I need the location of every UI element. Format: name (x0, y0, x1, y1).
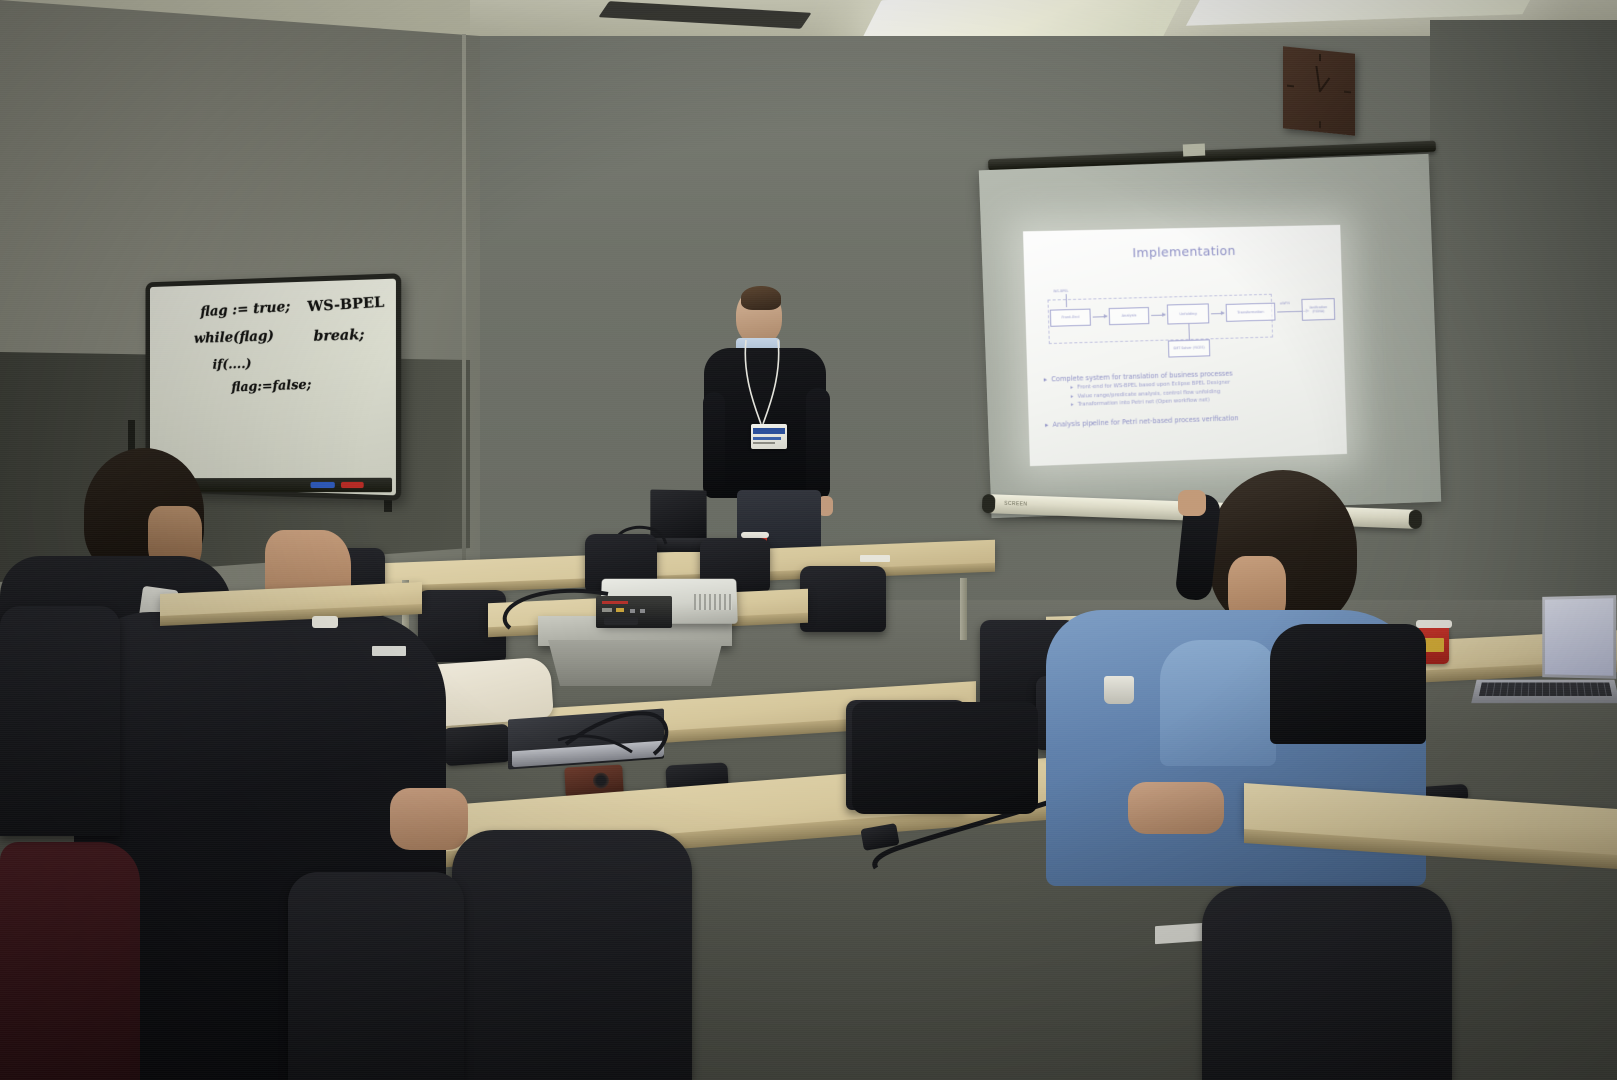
presenter-badge (751, 424, 787, 449)
whiteboard-line-3: if(....) (212, 357, 251, 373)
diagram-box-smt-solver: SMT Solver (YICES) (1168, 339, 1210, 357)
bullet-marker-icon: ▸ (1044, 374, 1048, 384)
paper-cup-center-right[interactable] (1104, 676, 1134, 704)
whiteboard-line-2: while(flag) (194, 328, 274, 347)
diagram-input-label: WS-BPEL (1053, 289, 1068, 293)
red-backpack (0, 842, 140, 1080)
chair[interactable] (0, 606, 120, 836)
projector-vent-icon (694, 594, 732, 610)
bullet-marker-icon: ▸ (1071, 393, 1074, 402)
whiteboard-line-break: break; (313, 327, 364, 345)
slide-diagram: WS-BPEL Front-End Analysis Unfolding Tra… (1039, 276, 1332, 362)
screen-rail-bracket (1183, 144, 1205, 157)
wall-clock-icon (1283, 46, 1355, 136)
bullet-marker-icon: ▸ (1071, 401, 1074, 410)
attendee-blue-shirt-shoulder (1160, 640, 1276, 766)
presenter-hair (741, 286, 781, 310)
presenter-right-arm (806, 388, 830, 500)
table-leg (960, 578, 967, 640)
diagram-box-transformation: Transformation (1226, 303, 1276, 322)
attendee-front-center-hands (390, 788, 468, 850)
slide-bullet-2: ▸Analysis pipeline for Petri net-based p… (1045, 410, 1336, 431)
diagram-box-verification: Verification (FIONA) (1301, 298, 1335, 321)
whiteboard-line-4: flag:=false; (231, 377, 312, 395)
bullet-marker-icon: ▸ (1045, 420, 1049, 430)
diagram-box-analysis: Analysis (1109, 307, 1150, 325)
camera-lens-icon (593, 772, 610, 789)
presenter-left-arm (703, 392, 725, 498)
desk-label (372, 646, 406, 656)
coffee-cup-right-lid (1416, 620, 1452, 628)
diagram-owfn-label: oWFN (1280, 301, 1290, 305)
slide-bullet-list: ▸Complete system for translation of busi… (1044, 365, 1337, 430)
chair[interactable] (1202, 886, 1452, 1080)
desk-label (860, 555, 890, 562)
whiteboard-line-ws-bpel: WS-BPEL (307, 294, 384, 315)
draped-jacket (852, 702, 1038, 814)
chair[interactable] (800, 566, 886, 632)
red-marker-icon (341, 482, 364, 488)
projector-cable-icon (496, 580, 614, 632)
chair[interactable] (288, 872, 464, 1080)
slide-title: Implementation (1023, 241, 1341, 263)
back-wall-right (1430, 20, 1617, 660)
paper-cup-left[interactable] (312, 616, 338, 628)
right-laptop-screen (1545, 598, 1613, 676)
attendee-blue-shirt-hands-clasped (1128, 782, 1224, 834)
attendee-right-rear-torso (1270, 624, 1426, 744)
classroom-photo: flag := true; while(flag) if(....) flag:… (0, 0, 1617, 1080)
diagram-box-front-end: Front-End (1050, 309, 1091, 327)
cable-bundle-icon (554, 696, 680, 772)
right-laptop-lid[interactable] (1542, 595, 1616, 679)
attendee-blue-shirt-hand (1178, 490, 1206, 516)
projected-slide: Implementation WS-BPEL Front-End Analysi… (1023, 225, 1347, 466)
chair[interactable] (452, 830, 692, 1080)
bullet-marker-icon: ▸ (1070, 384, 1073, 393)
projector-cart-side (548, 640, 723, 686)
black-pouch[interactable] (443, 724, 511, 767)
diagram-box-unfolding: Unfolding (1167, 303, 1209, 324)
whiteboard-line-1: flag := true; (200, 299, 290, 320)
